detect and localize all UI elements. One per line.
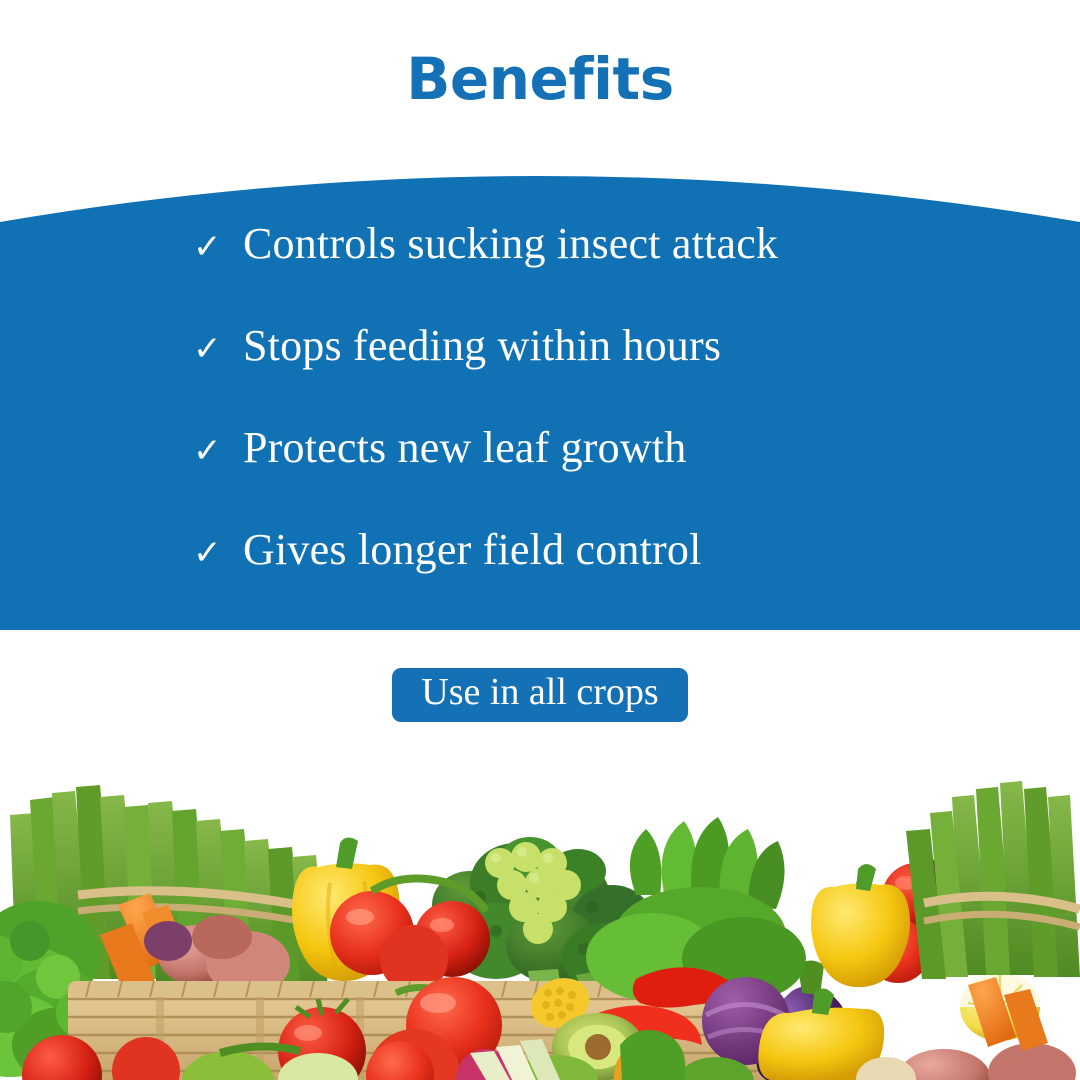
list-item: ✓ Stops feeding within hours	[193, 324, 1080, 426]
list-item: ✓ Gives longer field control	[193, 528, 1080, 630]
page-header: Benefits	[0, 0, 1080, 150]
benefit-label: Gives longer field control	[243, 528, 702, 572]
page-title: Benefits	[406, 42, 674, 108]
use-in-all-crops-badge: Use in all crops	[392, 668, 688, 722]
benefits-list: ✓ Controls sucking insect attack ✓ Stops…	[0, 222, 1080, 622]
check-icon: ✓	[193, 434, 243, 468]
check-icon: ✓	[193, 332, 243, 366]
list-item: ✓ Protects new leaf growth	[193, 426, 1080, 528]
benefit-label: Controls sucking insect attack	[243, 222, 778, 266]
check-icon: ✓	[193, 536, 243, 570]
list-item: ✓ Controls sucking insect attack	[193, 222, 1080, 324]
produce-photo	[0, 745, 1080, 1080]
check-icon: ✓	[193, 230, 243, 264]
produce-illustration	[0, 745, 1080, 1080]
benefit-label: Protects new leaf growth	[243, 426, 686, 470]
badge-container: Use in all crops	[0, 668, 1080, 722]
benefit-label: Stops feeding within hours	[243, 324, 721, 368]
